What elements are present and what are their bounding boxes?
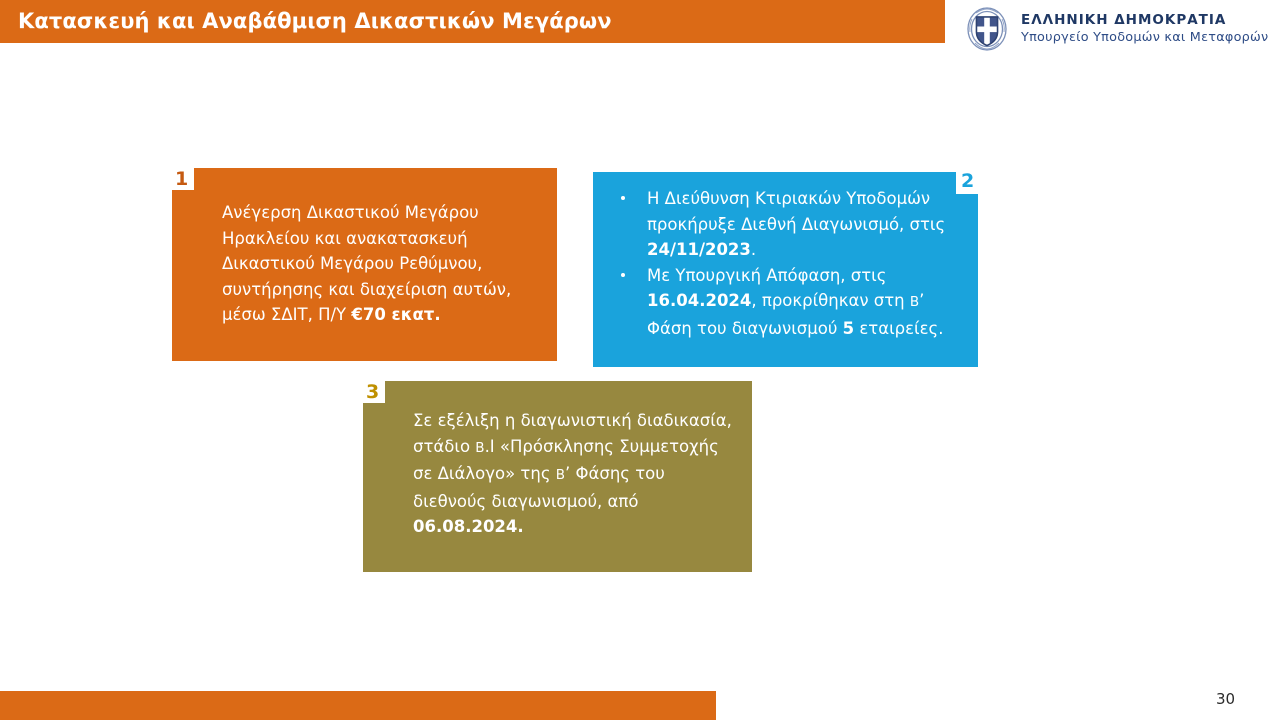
- bullet-list: Η Διεύθυνση Κτιριακών Υποδομών προκήρυξε…: [615, 186, 965, 341]
- ministry-logo-text: ΕΛΛΗΝΙΚΗ ΔΗΜΟΚΡΑΤΙΑ Υπουργείο Υποδομών κ…: [1021, 12, 1268, 46]
- content-box-1: Ανέγερση Δικαστικού Μεγάρου Ηρακλείου κα…: [172, 168, 557, 361]
- b2-l2-s2: , προκρίθηκαν στη: [751, 291, 909, 310]
- content-box-2: Η Διεύθυνση Κτιριακών Υποδομών προκήρυξε…: [593, 172, 978, 367]
- b3-s5: 06.08.2024.: [413, 517, 524, 536]
- badge-number-2: 2: [961, 172, 974, 191]
- b2-l1-s2: .: [751, 240, 756, 259]
- greek-republic-coat-of-arms-icon: [963, 5, 1011, 53]
- list-item: Η Διεύθυνση Κτιριακών Υποδομών προκήρυξε…: [615, 186, 965, 263]
- content-box-2-text: Η Διεύθυνση Κτιριακών Υποδομών προκήρυξε…: [615, 186, 965, 341]
- logo-line-republic: ΕΛΛΗΝΙΚΗ ΔΗΜΟΚΡΑΤΙΑ: [1021, 12, 1268, 29]
- badge-number-3: 3: [366, 383, 379, 402]
- content-box-1-text: Ανέγερση Δικαστικού Μεγάρου Ηρακλείου κα…: [222, 200, 542, 328]
- list-item: Με Υπουργική Απόφαση, στις 16.04.2024, π…: [615, 263, 965, 342]
- page-number: 30: [1216, 690, 1235, 708]
- page-title: Κατασκευή και Αναβάθμιση Δικαστικών Μεγά…: [18, 0, 612, 43]
- footer-bar: [0, 691, 716, 720]
- b2-l1-s0: Η Διεύθυνση Κτιριακών Υποδομών προκήρυξε…: [647, 189, 945, 234]
- content-box-3: Σε εξέλιξη η διαγωνιστική διαδικασία, στ…: [363, 381, 752, 572]
- b3-s3: Β: [556, 467, 565, 483]
- b2-l2-s1: 16.04.2024: [647, 291, 751, 310]
- bullet-dot-icon: [621, 196, 625, 200]
- b2-l2-s3: Β: [910, 294, 919, 310]
- content-box-3-text: Σε εξέλιξη η διαγωνιστική διαδικασία, στ…: [413, 408, 733, 540]
- b2-l1-s1: 24/11/2023: [647, 240, 751, 259]
- b2-l2-s6: εταιρείες.: [854, 319, 943, 338]
- ministry-logo: ΕΛΛΗΝΙΚΗ ΔΗΜΟΚΡΑΤΙΑ Υπουργείο Υποδομών κ…: [963, 3, 1263, 55]
- slide-canvas: Κατασκευή και Αναβάθμιση Δικαστικών Μεγά…: [0, 0, 1280, 720]
- b2-l2-s0: Με Υπουργική Απόφαση, στις: [647, 266, 886, 285]
- logo-line-ministry: Υπουργείο Υποδομών και Μεταφορών: [1021, 29, 1268, 46]
- box1-segment-bold: €70 εκατ.: [351, 305, 440, 324]
- title-bar: Κατασκευή και Αναβάθμιση Δικαστικών Μεγά…: [0, 0, 945, 43]
- b2-l2-s5: 5: [843, 319, 854, 338]
- badge-number-1: 1: [175, 170, 188, 189]
- bullet-dot-icon: [621, 273, 625, 277]
- b3-s1: Β: [475, 440, 484, 456]
